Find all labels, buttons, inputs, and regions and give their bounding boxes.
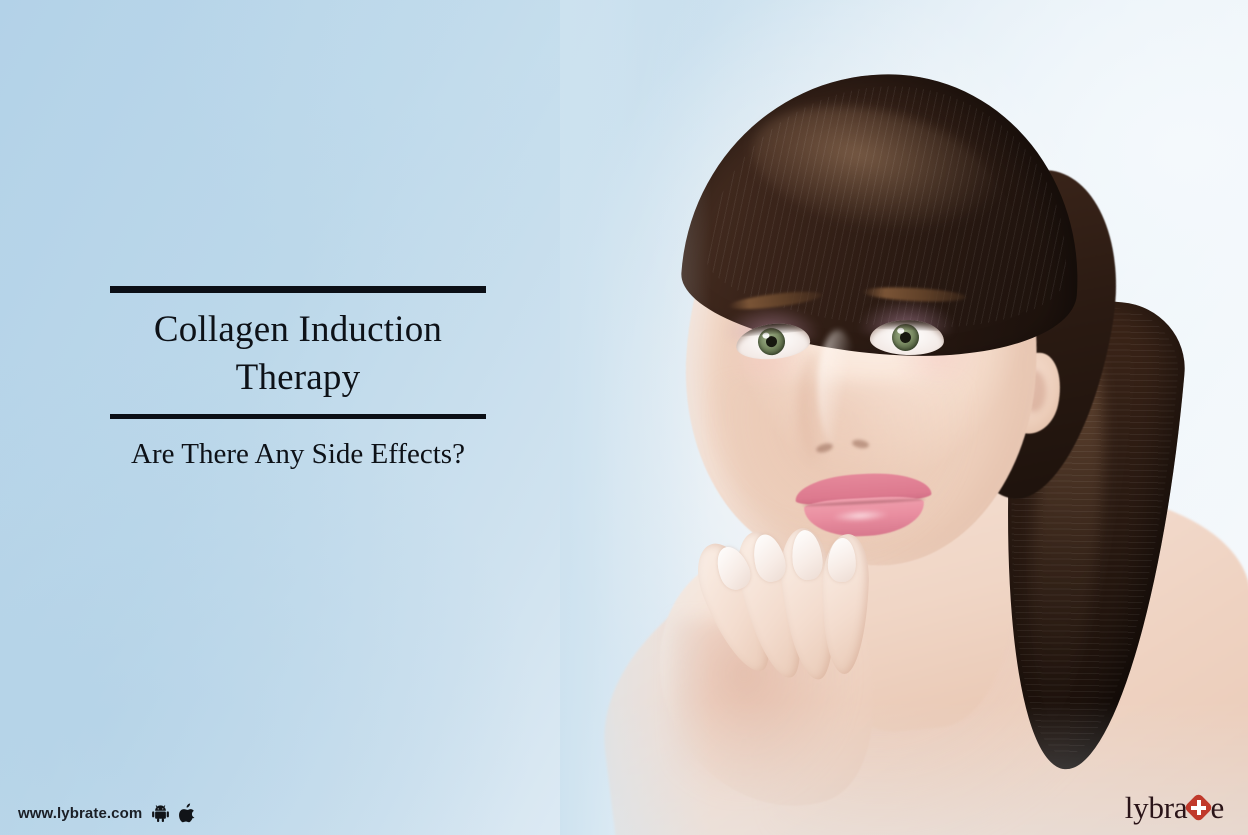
medical-cross-icon xyxy=(1186,795,1211,820)
page-title: Collagen Induction Therapy xyxy=(110,293,486,414)
brand-text-before: lybra xyxy=(1125,792,1188,823)
lips xyxy=(794,470,933,541)
headline-rule-top xyxy=(110,286,486,293)
apple-icon[interactable] xyxy=(179,803,196,823)
site-url[interactable]: www.lybrate.com xyxy=(18,805,142,822)
plus-horizontal xyxy=(1191,806,1206,810)
page-subtitle: Are There Any Side Effects? xyxy=(110,419,486,472)
footer-left: www.lybrate.com xyxy=(18,803,196,823)
banner-image: Collagen Induction Therapy Are There Any… xyxy=(0,0,1248,835)
lybrate-logo[interactable]: lybra e xyxy=(1125,792,1224,823)
nose-bridge xyxy=(818,330,858,448)
woman-portrait-photo xyxy=(560,0,1248,835)
headline-block: Collagen Induction Therapy Are There Any… xyxy=(110,286,486,472)
android-icon[interactable] xyxy=(151,804,170,823)
brand-text-after: e xyxy=(1210,792,1224,823)
